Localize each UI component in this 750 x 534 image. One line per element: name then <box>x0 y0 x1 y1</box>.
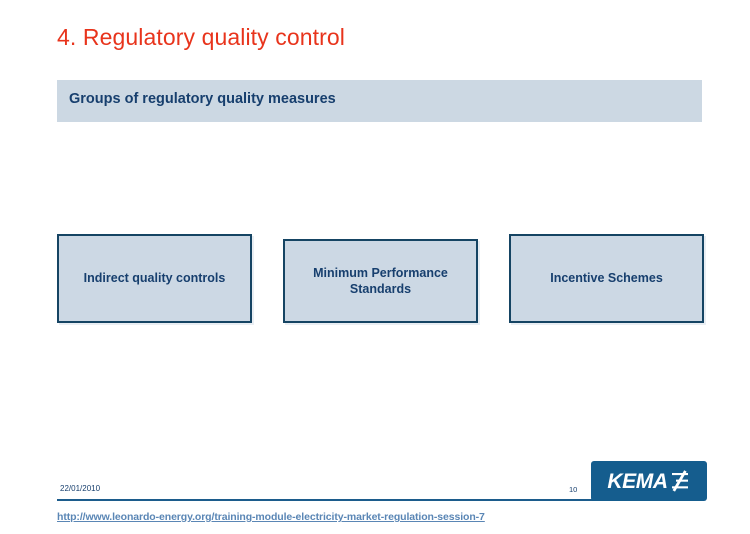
kema-logo-wordmark: KEMA <box>607 471 667 492</box>
measure-box-indirect-quality-controls[interactable]: Indirect quality controls <box>57 234 252 323</box>
slide-canvas: 4. Regulatory quality control Groups of … <box>0 0 750 534</box>
measure-box-label: Minimum Performance Standards <box>285 265 476 298</box>
subtitle-label: Groups of regulatory quality measures <box>69 91 336 107</box>
subtitle-band: Groups of regulatory quality measures <box>57 80 702 122</box>
measure-box-label: Incentive Schemes <box>542 270 671 287</box>
kema-arrow-icon <box>669 469 691 493</box>
kema-logo: KEMA <box>591 461 707 501</box>
page-title: 4. Regulatory quality control <box>57 24 345 51</box>
measure-box-incentive-schemes[interactable]: Incentive Schemes <box>509 234 704 323</box>
measure-box-minimum-performance-standards[interactable]: Minimum Performance Standards <box>283 239 478 323</box>
measure-box-label: Indirect quality controls <box>76 270 234 287</box>
footer-date: 22/01/2010 <box>60 484 100 493</box>
footer-page-number: 10 <box>569 485 577 494</box>
footer-source-link[interactable]: http://www.leonardo-energy.org/training-… <box>57 511 485 523</box>
